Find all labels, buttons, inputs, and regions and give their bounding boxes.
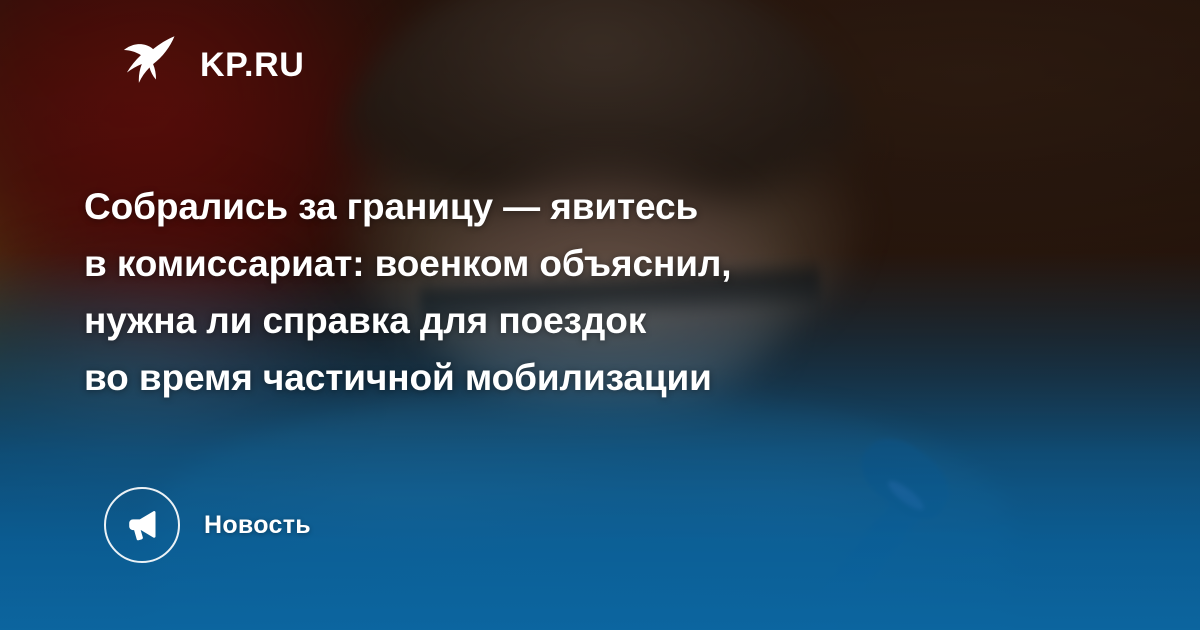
category-badge[interactable]: Новость bbox=[104, 487, 311, 563]
swallow-bird-icon bbox=[104, 34, 178, 96]
brand-logo[interactable]: KP.RU bbox=[104, 34, 304, 96]
headline-line-4: во время частичной мобилизации bbox=[84, 349, 984, 406]
card-content: KP.RU Собрались за границу — явитесь в к… bbox=[0, 0, 1200, 630]
megaphone-icon bbox=[104, 487, 180, 563]
news-share-card: KP.RU Собрались за границу — явитесь в к… bbox=[0, 0, 1200, 630]
brand-wordmark: KP.RU bbox=[200, 48, 304, 82]
status-badge: Новость bbox=[204, 511, 311, 540]
headline-line-2: в комиссариат: военком объяснил, bbox=[84, 235, 984, 292]
page-title: Собрались за границу — явитесь в комисса… bbox=[84, 178, 984, 406]
headline-line-3: нужна ли справка для поездок bbox=[84, 292, 984, 349]
headline-line-1: Собрались за границу — явитесь bbox=[84, 178, 984, 235]
